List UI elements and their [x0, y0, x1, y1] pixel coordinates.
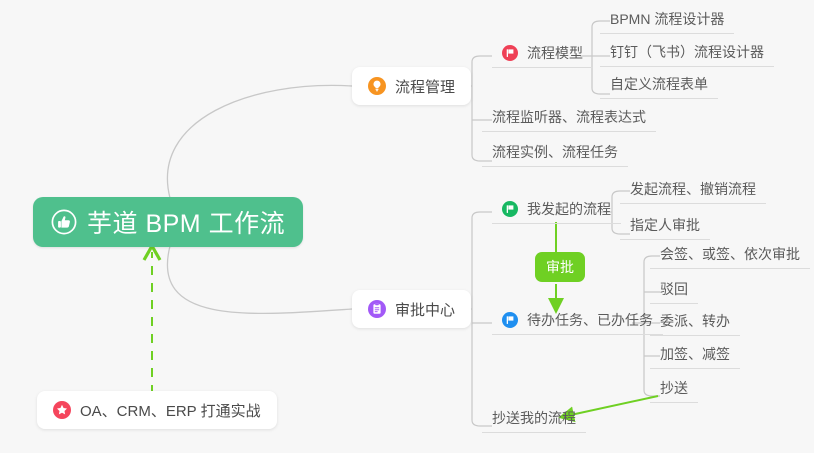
branch-label-approval-center: 审批中心: [395, 299, 455, 320]
node-label-cc: 抄送: [660, 378, 688, 398]
root-label: 芋道 BPM 工作流: [87, 204, 285, 240]
node-process-model[interactable]: 流程模型: [492, 42, 593, 68]
node-add-remove-sign[interactable]: 加签、减签: [650, 343, 740, 369]
node-label-add-remove-sign: 加签、减签: [660, 344, 730, 364]
clipboard-icon: [368, 300, 386, 318]
node-reject[interactable]: 驳回: [650, 278, 698, 304]
node-label-my-started-process: 我发起的流程: [527, 199, 611, 219]
node-label-cc-my-process: 抄送我的流程: [492, 408, 576, 428]
node-custom-form[interactable]: 自定义流程表单: [600, 73, 718, 99]
node-assignee-approval[interactable]: 指定人审批: [620, 214, 710, 240]
flag-icon: [502, 201, 518, 217]
node-label-assignee-approval: 指定人审批: [630, 215, 700, 235]
flag-icon: [502, 312, 518, 328]
node-label-process-model: 流程模型: [527, 43, 583, 63]
lightbulb-icon: [368, 77, 386, 95]
node-label-custom-form: 自定义流程表单: [610, 74, 708, 94]
star-icon: [53, 401, 71, 419]
node-dingtalk-designer[interactable]: 钉钉（飞书）流程设计器: [600, 41, 774, 67]
flow-tag-approve-label: 审批: [546, 257, 574, 277]
node-cc[interactable]: 抄送: [650, 377, 698, 403]
node-label-dingtalk-designer: 钉钉（飞书）流程设计器: [610, 42, 764, 62]
root-node[interactable]: 芋道 BPM 工作流: [33, 197, 303, 247]
node-label-process-listener: 流程监听器、流程表达式: [492, 107, 646, 127]
flag-icon: [502, 45, 518, 61]
thumbs-up-icon: [51, 209, 77, 235]
node-label-reject: 驳回: [660, 279, 688, 299]
node-label-bpmn-designer: BPMN 流程设计器: [610, 9, 724, 29]
node-delegate-transfer[interactable]: 委派、转办: [650, 310, 740, 336]
node-label-todo-done-tasks: 待办任务、已办任务: [527, 310, 653, 330]
node-label-delegate-transfer: 委派、转办: [660, 311, 730, 331]
node-label-countersign: 会签、或签、依次审批: [660, 244, 800, 264]
node-cc-my-process[interactable]: 抄送我的流程: [482, 407, 586, 433]
node-bpmn-designer[interactable]: BPMN 流程设计器: [600, 8, 734, 34]
branch-label-process-management: 流程管理: [395, 76, 455, 97]
node-start-cancel-process[interactable]: 发起流程、撤销流程: [620, 178, 766, 204]
node-todo-done-tasks[interactable]: 待办任务、已办任务: [492, 309, 663, 335]
node-label-start-cancel-process: 发起流程、撤销流程: [630, 179, 756, 199]
flow-tag-approve[interactable]: 审批: [535, 252, 585, 282]
branch-node-approval-center[interactable]: 审批中心: [352, 290, 471, 328]
node-process-instance[interactable]: 流程实例、流程任务: [482, 141, 628, 167]
footer-node-label: OA、CRM、ERP 打通实战: [80, 400, 261, 421]
footer-node-integration-practice[interactable]: OA、CRM、ERP 打通实战: [37, 391, 277, 429]
mindmap-canvas: 芋道 BPM 工作流 流程管理 流程模型 BPMN 流程设计器 钉钉（飞书）流程: [0, 0, 814, 453]
node-countersign[interactable]: 会签、或签、依次审批: [650, 243, 810, 269]
node-label-process-instance: 流程实例、流程任务: [492, 142, 618, 162]
node-my-started-process[interactable]: 我发起的流程: [492, 198, 621, 224]
branch-node-process-management[interactable]: 流程管理: [352, 67, 471, 105]
node-process-listener[interactable]: 流程监听器、流程表达式: [482, 106, 656, 132]
